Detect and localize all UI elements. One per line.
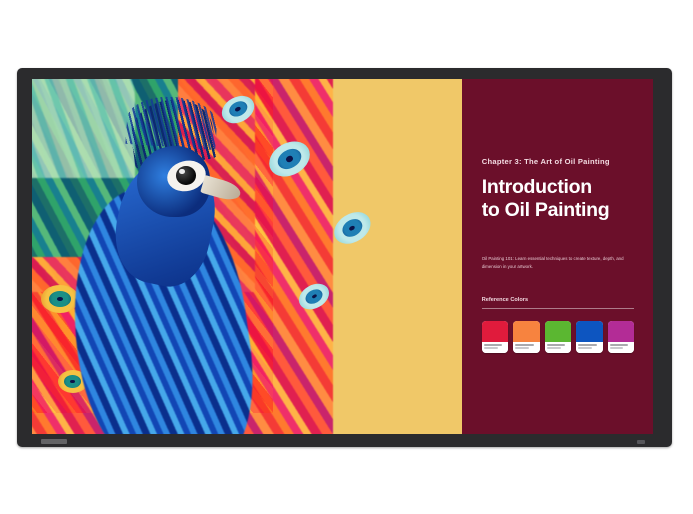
swatch-name: Cobalt <box>578 344 596 346</box>
reference-colors-divider <box>482 308 634 309</box>
swatch-hex: #F7833F <box>515 347 529 349</box>
color-swatch[interactable]: Magenta #B32C96 <box>608 321 634 353</box>
color-swatch[interactable]: Coral #F7833F <box>513 321 539 353</box>
swatch-hex: #E01B3C <box>484 347 498 349</box>
swatch-name: Coral <box>515 344 533 346</box>
color-swatch-list: Crimson #E01B3C Coral #F7833F <box>482 321 634 353</box>
power-led-indicator <box>637 440 645 444</box>
swatch-name: Leaf Green <box>547 344 565 346</box>
feather-ocellus-icon <box>328 206 376 251</box>
monitor-bezel-inner: Chapter 3: The Art of Oil Painting Intro… <box>32 79 653 434</box>
swatch-meta: Magenta #B32C96 <box>608 342 634 353</box>
swatch-name: Crimson <box>484 344 502 346</box>
reference-colors-label: Reference Colors <box>482 297 634 303</box>
slide-text-panel: Chapter 3: The Art of Oil Painting Intro… <box>462 79 653 434</box>
swatch-chip <box>545 321 571 342</box>
swatch-meta: Cobalt #0D55C0 <box>576 342 602 353</box>
swatch-meta: Coral #F7833F <box>513 342 539 353</box>
swatch-chip <box>513 321 539 342</box>
slide-artwork-peacock-painting <box>32 79 462 434</box>
slide-description: Oil Painting 101: Learn essential techni… <box>482 255 634 270</box>
color-swatch[interactable]: Cobalt #0D55C0 <box>576 321 602 353</box>
monitor-screen[interactable]: Chapter 3: The Art of Oil Painting Intro… <box>32 79 653 434</box>
color-swatch[interactable]: Crimson #E01B3C <box>482 321 508 353</box>
slide-title-line-2: to Oil Painting <box>482 199 610 221</box>
swatch-chip <box>608 321 634 342</box>
swatch-chip <box>576 321 602 342</box>
slide-title-line-1: Introduction <box>482 176 592 198</box>
slide-chapter-label: Chapter 3: The Art of Oil Painting <box>482 157 634 166</box>
art-teal-highlight-layer <box>32 79 135 178</box>
swatch-hex: #5BB731 <box>547 347 561 349</box>
swatch-meta: Leaf Green #5BB731 <box>545 342 571 353</box>
swatch-chip <box>482 321 508 342</box>
color-swatch[interactable]: Leaf Green #5BB731 <box>545 321 571 353</box>
swatch-meta: Crimson #E01B3C <box>482 342 508 353</box>
slide-title: Introduction to Oil Painting <box>482 176 634 221</box>
display-monitor: Chapter 3: The Art of Oil Painting Intro… <box>17 68 672 447</box>
swatch-name: Magenta <box>610 344 628 346</box>
monitor-brand-logo <box>41 439 67 444</box>
swatch-hex: #B32C96 <box>610 347 624 349</box>
swatch-hex: #0D55C0 <box>578 347 592 349</box>
